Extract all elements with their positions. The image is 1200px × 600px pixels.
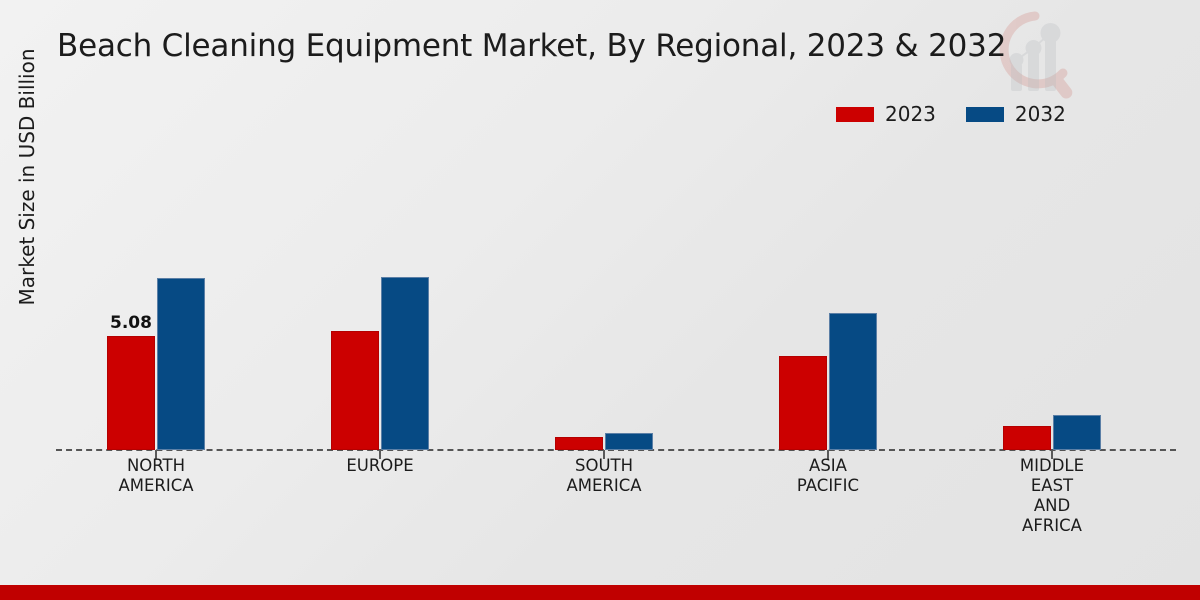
bar-2032-asia-pacific[interactable] <box>829 313 877 450</box>
bar-2023-europe[interactable] <box>331 331 379 450</box>
bar-value-label-north-america: 5.08 <box>103 313 159 333</box>
bar-2023-asia-pacific[interactable] <box>779 356 827 450</box>
x-label-asia-pacific: ASIAPACIFIC <box>738 456 918 496</box>
x-label-south-america: SOUTHAMERICA <box>514 456 694 496</box>
x-label-north-america: NORTHAMERICA <box>66 456 246 496</box>
x-label-middle-east-and-africa: MIDDLEEASTANDAFRICA <box>962 456 1142 537</box>
footer-accent-bar <box>0 585 1200 600</box>
plot-area: 5.08 NORTHAMERICA EUROPE SOUTHAMERICA AS… <box>0 0 1200 600</box>
bar-2023-south-america[interactable] <box>555 437 603 450</box>
chart-page: Beach Cleaning Equipment Market, By Regi… <box>0 0 1200 600</box>
x-label-europe: EUROPE <box>290 456 470 476</box>
bar-2032-south-america[interactable] <box>605 433 653 450</box>
bar-2032-europe[interactable] <box>381 277 429 450</box>
bar-2032-middle-east-and-africa[interactable] <box>1053 415 1101 450</box>
bar-2023-north-america[interactable] <box>107 336 155 450</box>
bar-2032-north-america[interactable] <box>157 278 205 450</box>
bar-2023-middle-east-and-africa[interactable] <box>1003 426 1051 450</box>
